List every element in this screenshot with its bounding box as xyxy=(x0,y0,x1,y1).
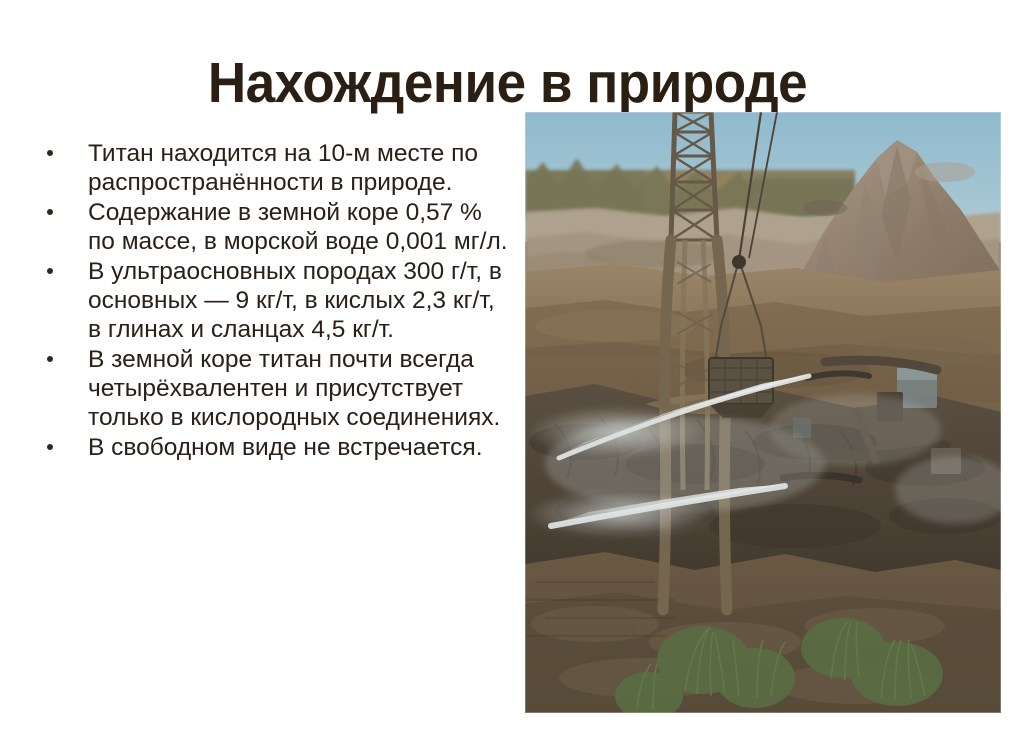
list-item: В свободном виде не встречается. xyxy=(34,433,514,462)
quarry-photo xyxy=(525,112,1001,713)
list-item: Содержание в земной коре 0,57 % по массе… xyxy=(34,198,514,256)
bullet-dot-icon xyxy=(47,268,53,274)
list-item-text: В свободном виде не встречается. xyxy=(88,433,514,462)
photo-tone-overlay xyxy=(525,112,1001,713)
list-item-text: В земной коре титан почти всегда четырёх… xyxy=(88,345,514,432)
list-item-text: Содержание в земной коре 0,57 % по массе… xyxy=(88,198,514,256)
bullet-dot-icon xyxy=(47,444,53,450)
list-item: В земной коре титан почти всегда четырёх… xyxy=(34,345,514,432)
quarry-photo-illustration xyxy=(525,112,1001,713)
list-item: Титан находится на 10-м месте по распрос… xyxy=(34,139,514,197)
bullet-dot-icon xyxy=(47,356,53,362)
slide-root: Нахождение в природе Титан находится на … xyxy=(0,0,1015,733)
list-item-text: В ультраосновных породах 300 г/т, в осно… xyxy=(88,257,514,344)
bullet-list: Титан находится на 10-м месте по распрос… xyxy=(34,139,514,463)
list-item: В ультраосновных породах 300 г/т, в осно… xyxy=(34,257,514,344)
bullet-dot-icon xyxy=(47,150,53,156)
bullet-dot-icon xyxy=(47,209,53,215)
list-item-text: Титан находится на 10-м месте по распрос… xyxy=(88,139,514,197)
page-title: Нахождение в природе xyxy=(36,50,980,116)
